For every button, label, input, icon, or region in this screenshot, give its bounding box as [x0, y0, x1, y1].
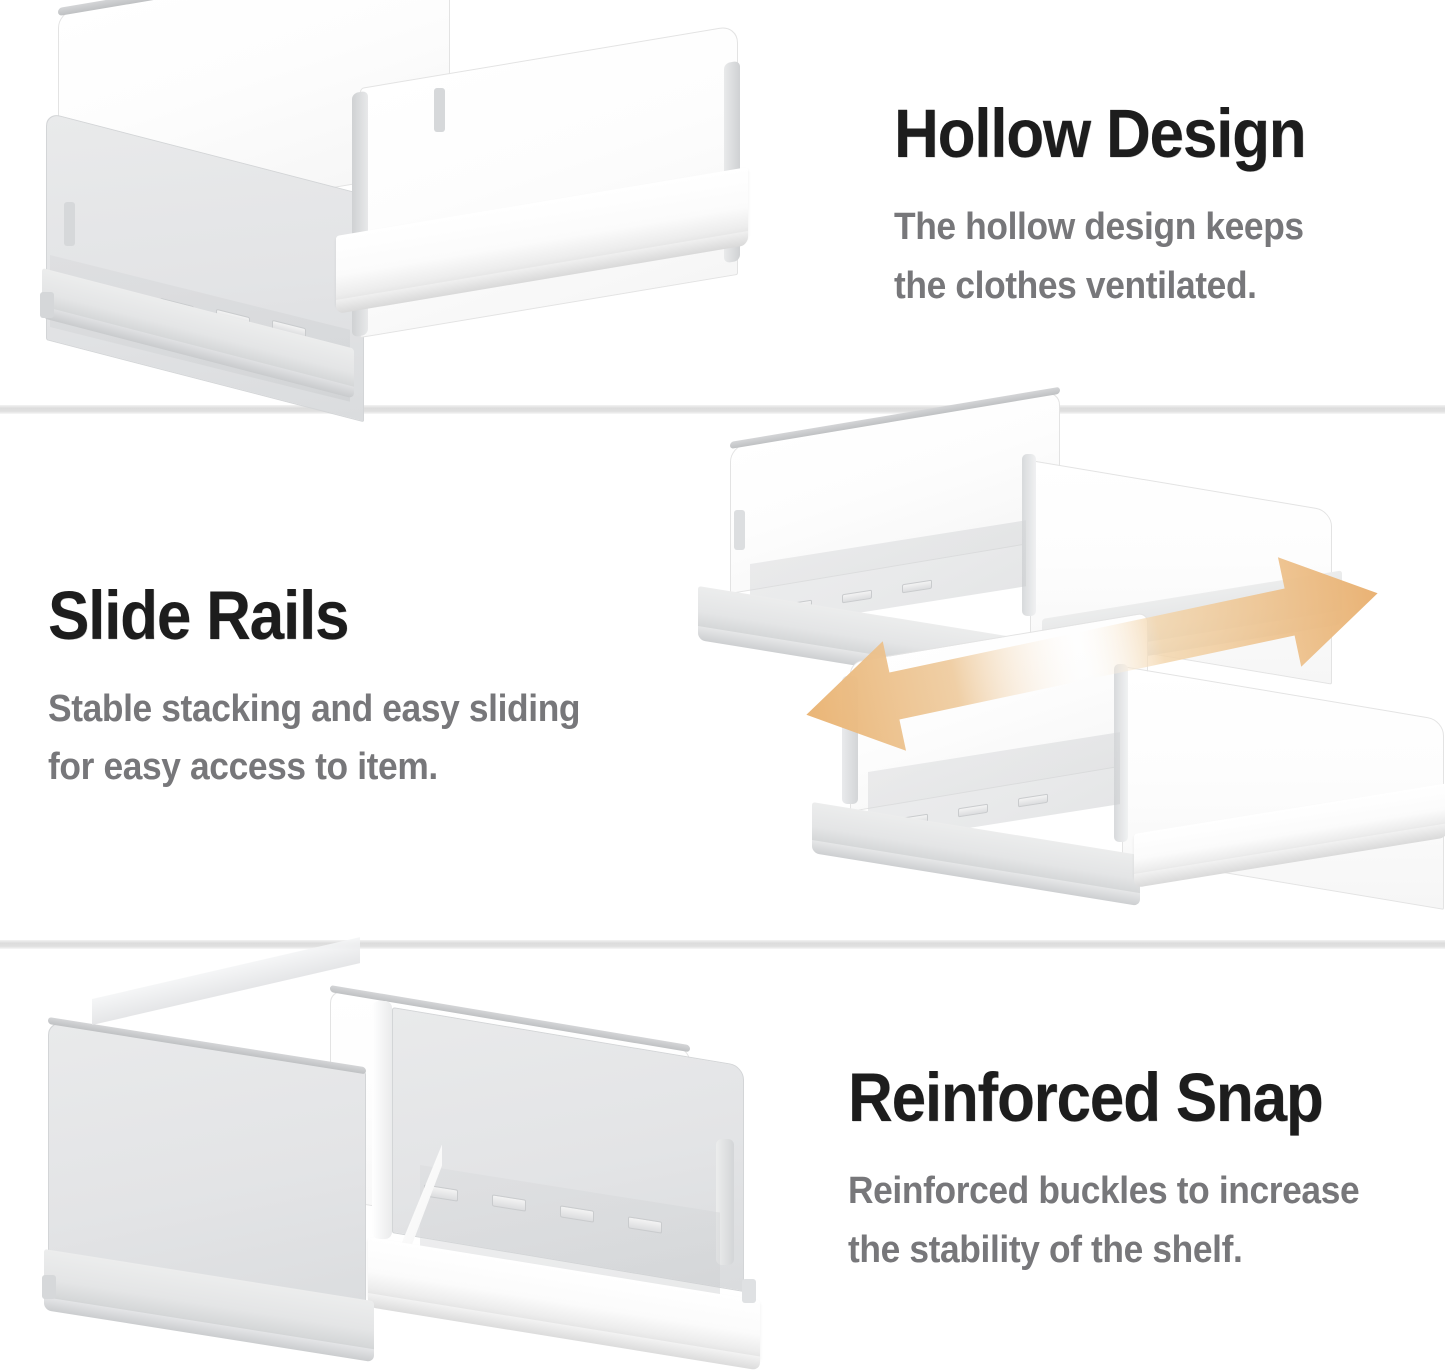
feature-description-line: The hollow design keeps — [894, 198, 1406, 257]
divider-1 — [0, 405, 1445, 414]
basket-corner-post — [372, 1001, 392, 1239]
product-image-slide-rails — [690, 414, 1445, 940]
product-image-reinforced-snap — [0, 949, 830, 1359]
hinge-slot — [434, 88, 445, 132]
feature-panel-reinforced-snap: Reinforced Snap Reinforced buckles to in… — [0, 949, 1445, 1359]
feature-description-line: Stable stacking and easy sliding — [48, 680, 645, 739]
hinge-slot — [734, 510, 745, 550]
feature-heading: Slide Rails — [48, 581, 626, 650]
feature-description: Stable stacking and easy sliding for eas… — [48, 680, 645, 797]
feature-description-line: the stability of the shelf. — [848, 1221, 1403, 1280]
feature-description-line: for easy access to item. — [48, 738, 645, 797]
basket-foot — [742, 1279, 756, 1303]
feature-description: The hollow design keeps the clothes vent… — [894, 198, 1406, 315]
product-infographic: Hollow Design The hollow design keeps th… — [0, 0, 1445, 1358]
feature-heading: Reinforced Snap — [848, 1063, 1385, 1132]
basket-foot — [40, 292, 54, 318]
divider-2 — [0, 940, 1445, 949]
feature-panel-hollow-design: Hollow Design The hollow design keeps th… — [0, 0, 1445, 405]
feature-description: Reinforced buckles to increase the stabi… — [848, 1162, 1403, 1279]
feature-text-hollow-design: Hollow Design The hollow design keeps th… — [880, 89, 1445, 315]
product-image-hollow-design — [0, 0, 880, 405]
feature-text-reinforced-snap: Reinforced Snap Reinforced buckles to in… — [830, 1027, 1445, 1279]
feature-heading: Hollow Design — [894, 99, 1390, 168]
feature-description-line: Reinforced buckles to increase — [848, 1162, 1403, 1221]
feature-description-line: the clothes ventilated. — [894, 257, 1406, 316]
hinge-slot — [64, 202, 75, 246]
basket-top-rim — [92, 937, 360, 1025]
basket-foot — [42, 1275, 56, 1299]
feature-text-slide-rails: Slide Rails Stable stacking and easy sli… — [0, 557, 690, 797]
lower-basket-left-post — [842, 676, 858, 804]
feature-panel-slide-rails: Slide Rails Stable stacking and easy sli… — [0, 414, 1445, 940]
